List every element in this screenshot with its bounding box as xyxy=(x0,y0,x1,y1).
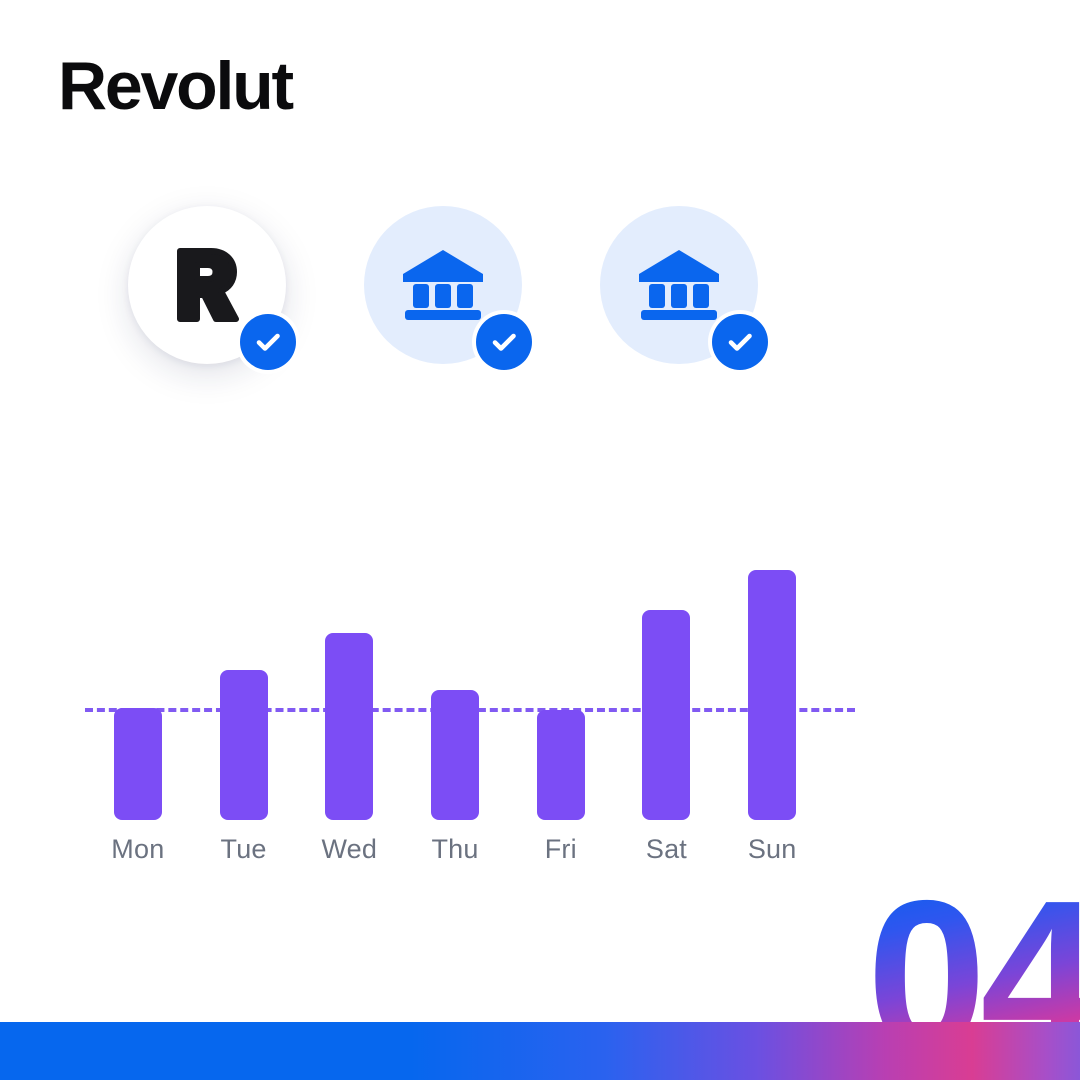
bank-icon xyxy=(401,248,485,322)
verified-badge xyxy=(236,310,300,374)
chart-bar-column xyxy=(296,545,402,820)
chart-bar[interactable] xyxy=(642,610,690,820)
chart-bar[interactable] xyxy=(325,633,373,821)
weekly-spending-chart: MonTueWedThuFriSatSun xyxy=(85,545,825,885)
chart-bar[interactable] xyxy=(537,710,585,820)
bank-icon xyxy=(637,248,721,322)
check-icon xyxy=(724,326,756,358)
chart-x-label: Mon xyxy=(85,834,191,865)
chart-plot-area xyxy=(85,545,825,820)
chart-x-label: Fri xyxy=(508,834,614,865)
account-item-bank-1[interactable] xyxy=(364,206,522,364)
verified-badge xyxy=(472,310,536,374)
verified-badge-circle xyxy=(476,314,532,370)
chart-x-label: Sat xyxy=(614,834,720,865)
chart-bar-column xyxy=(719,545,825,820)
slide-canvas: Revolut xyxy=(0,0,1080,1080)
footer-gradient-bar xyxy=(0,1022,1080,1080)
chart-bar[interactable] xyxy=(748,570,796,820)
verified-badge-circle xyxy=(712,314,768,370)
check-icon xyxy=(252,326,284,358)
check-icon xyxy=(488,326,520,358)
chart-bar-column xyxy=(614,545,720,820)
verified-badge-circle xyxy=(240,314,296,370)
chart-bar[interactable] xyxy=(220,670,268,820)
account-item-bank-2[interactable] xyxy=(600,206,758,364)
brand-wordmark: Revolut xyxy=(58,52,292,120)
linked-accounts-row xyxy=(128,206,758,364)
verified-badge xyxy=(708,310,772,374)
chart-x-label: Thu xyxy=(402,834,508,865)
chart-bars xyxy=(85,545,825,820)
chart-bar-column xyxy=(191,545,297,820)
revolut-r-icon xyxy=(170,245,244,325)
account-item-revolut[interactable] xyxy=(128,206,286,364)
chart-bar-column xyxy=(85,545,191,820)
chart-x-label: Sun xyxy=(719,834,825,865)
chart-bar[interactable] xyxy=(431,690,479,820)
chart-bar[interactable] xyxy=(114,708,162,821)
chart-x-label: Tue xyxy=(191,834,297,865)
chart-x-label: Wed xyxy=(296,834,402,865)
chart-x-axis-labels: MonTueWedThuFriSatSun xyxy=(85,834,825,865)
chart-bar-column xyxy=(402,545,508,820)
chart-bar-column xyxy=(508,545,614,820)
